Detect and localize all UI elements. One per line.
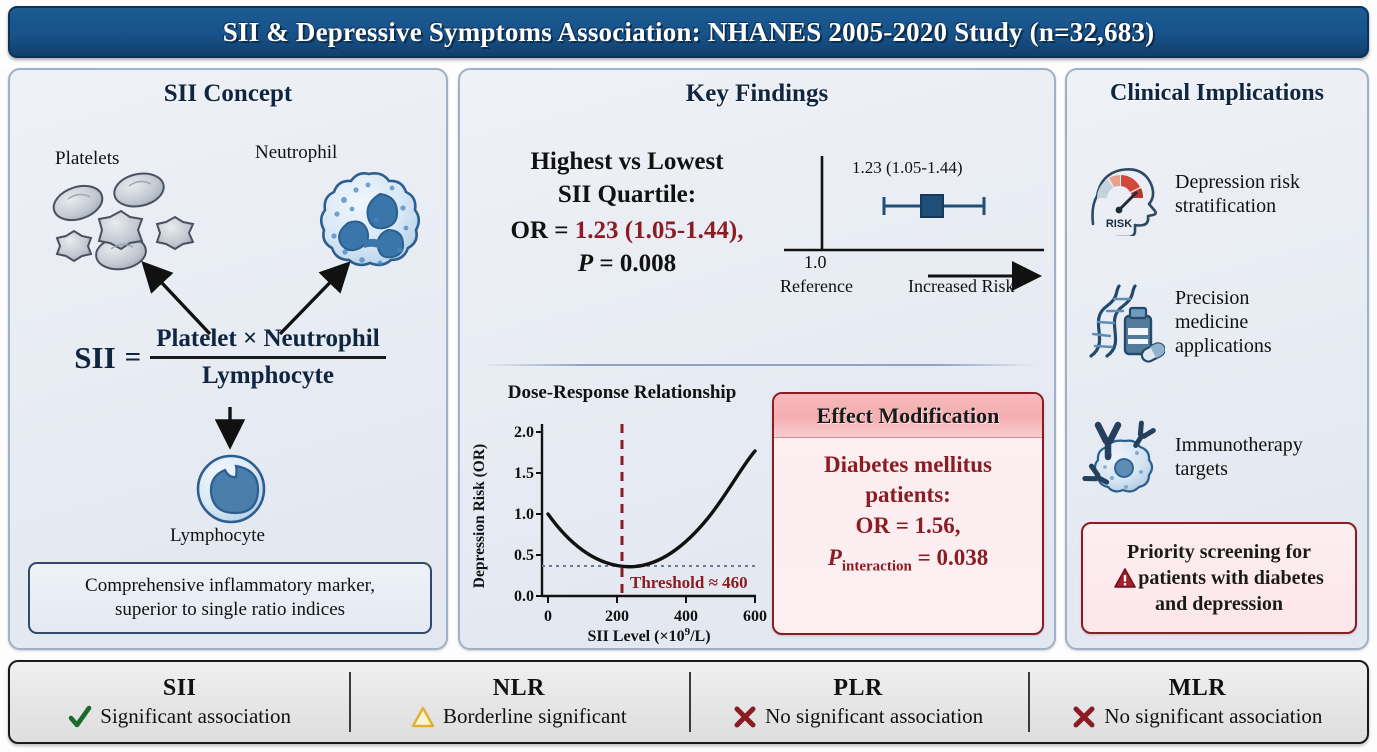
priority-line-2-row: patients with diabetes	[1114, 565, 1324, 591]
effect-modification-box: Effect Modification Diabetes mellitus pa…	[772, 392, 1044, 635]
footer-status-mlr-row: No significant association	[1072, 704, 1322, 729]
formula-denominator: Lymphocyte	[196, 359, 340, 390]
dose-response-title: Dose-Response Relationship	[472, 382, 772, 404]
ytick-1-5: 1.5	[514, 465, 534, 482]
footer-cell-plr: PLR No significant association	[689, 662, 1028, 742]
implication-1-line-2: stratification	[1175, 194, 1300, 218]
neutrophil-label: Neutrophil	[255, 142, 337, 164]
panel-title-sii-concept: SII Concept	[10, 80, 446, 108]
panel-title-clinical-implications: Clinical Implications	[1067, 80, 1367, 107]
footer-status-plr-row: No significant association	[733, 704, 983, 729]
ytick-1-0: 1.0	[514, 506, 534, 523]
effect-p-line: Pinteraction = 0.038	[782, 543, 1034, 577]
head-risk-gauge-icon: RISK	[1081, 152, 1165, 236]
priority-screening-box: Priority screening for patients with dia…	[1081, 522, 1357, 634]
implication-item-precision-medicine: Precision medicine applications	[1081, 280, 1361, 364]
ytick-2-0: 2.0	[514, 424, 534, 441]
summary-footer: SII Significant association NLR Borderli…	[8, 660, 1369, 744]
key-finding-text: Highest vs Lowest SII Quartile: OR = 1.2…	[472, 146, 782, 280]
platelets-label: Platelets	[55, 148, 119, 170]
footer-status-sii-row: Significant association	[68, 704, 291, 729]
sii-formula: SII = Platelet × Neutrophil Lymphocyte	[20, 325, 440, 390]
forest-plot: 1.23 (1.05-1.44) 1.0 R	[778, 150, 1050, 330]
triangle-icon	[411, 705, 435, 729]
forest-reference-caption: Reference	[780, 276, 853, 297]
implication-text-1: Depression risk stratification	[1175, 170, 1300, 218]
forest-direction-caption: Increased Risk	[908, 276, 1014, 297]
priority-line-2: patients with diabetes	[1138, 567, 1324, 589]
cross-icon	[1072, 705, 1096, 729]
footer-status-nlr: Borderline significant	[443, 704, 627, 729]
header-banner: SII & Depressive Symptoms Association: N…	[8, 6, 1369, 58]
panel-title-key-findings: Key Findings	[460, 80, 1054, 108]
implication-2-line-2: medicine	[1175, 310, 1272, 334]
implication-item-immunotherapy: Immunotherapy targets	[1081, 415, 1361, 499]
dose-xlabel: SII Level (×109/L)	[587, 626, 710, 645]
footer-status-plr: No significant association	[765, 704, 983, 729]
dose-response-graphic: Depression Risk (OR) 2.0 1.5 1.0 0.5 0.0	[468, 410, 768, 645]
footer-cell-mlr: MLR No significant association	[1028, 662, 1367, 742]
effect-line-1: Diabetes mellitus	[782, 450, 1034, 480]
panel-sii-concept: SII Concept Platelets Neutrophil	[8, 68, 448, 650]
dose-response-chart: Depression Risk (OR) 2.0 1.5 1.0 0.5 0.0	[468, 410, 768, 645]
footer-cell-nlr: NLR Borderline significant	[349, 662, 688, 742]
formula-numerator: Platelet × Neutrophil	[150, 325, 385, 356]
graphical-abstract: SII & Depressive Symptoms Association: N…	[0, 0, 1377, 752]
footer-marker-sii: SII	[163, 675, 197, 702]
finding-line-1: Highest vs Lowest	[472, 146, 782, 179]
panel-clinical-implications: Clinical Implications RISK Depression ri…	[1065, 68, 1369, 650]
implication-item-depression-risk: RISK Depression risk stratification	[1081, 152, 1361, 236]
sii-note-line-2: superior to single ratio indices	[115, 598, 345, 622]
priority-line-1: Priority screening for	[1114, 539, 1324, 565]
footer-status-sii: Significant association	[100, 704, 291, 729]
mid-panel-divider	[482, 364, 1036, 366]
finding-or-line: OR = 1.23 (1.05-1.44),	[472, 215, 782, 248]
footer-status-nlr-row: Borderline significant	[411, 704, 627, 729]
effect-modification-body: Diabetes mellitus patients: OR = 1.56, P…	[774, 438, 1042, 577]
lymphocyte-icon	[192, 450, 270, 528]
ytick-0-5: 0.5	[514, 547, 534, 564]
warning-triangle-icon	[1114, 568, 1136, 588]
xtick-0: 0	[544, 608, 552, 625]
formula-lhs: SII	[74, 340, 115, 376]
cross-icon	[733, 705, 757, 729]
implication-2-line-3: applications	[1175, 334, 1272, 358]
xtick-200: 200	[605, 608, 629, 625]
down-arrow-icon	[215, 405, 245, 453]
effect-modification-header: Effect Modification	[774, 394, 1042, 438]
page-title: SII & Depressive Symptoms Association: N…	[223, 17, 1155, 48]
implication-text-3: Immunotherapy targets	[1175, 433, 1303, 481]
finding-line-2: SII Quartile:	[472, 179, 782, 212]
sii-note-box: Comprehensive inflammatory marker, super…	[28, 562, 432, 634]
effect-line-2: patients:	[782, 480, 1034, 510]
effect-p-value: = 0.038	[912, 545, 988, 570]
risk-gauge-label: RISK	[1106, 218, 1132, 230]
implication-text-2: Precision medicine applications	[1175, 286, 1272, 358]
sii-note-line-1: Comprehensive inflammatory marker,	[85, 574, 375, 598]
formula-fraction: Platelet × Neutrophil Lymphocyte	[150, 325, 385, 390]
implication-3-line-2: targets	[1175, 457, 1303, 481]
ytick-0-0: 0.0	[514, 588, 534, 605]
formula-equals: =	[125, 341, 142, 374]
effect-p-subscript: interaction	[842, 559, 912, 575]
p-label: P	[578, 250, 593, 277]
xtick-400: 400	[674, 608, 698, 625]
dose-ylabel: Depression Risk (OR)	[471, 444, 488, 588]
footer-status-mlr: No significant association	[1104, 704, 1322, 729]
forest-estimate-label: 1.23 (1.05-1.44)	[852, 158, 962, 178]
or-prefix: OR =	[511, 217, 575, 244]
panel-key-findings: Key Findings Highest vs Lowest SII Quart…	[458, 68, 1056, 650]
threshold-label: Threshold ≈ 460	[630, 573, 748, 592]
lymphocyte-label: Lymphocyte	[170, 525, 265, 547]
or-value: 1.23 (1.05-1.44),	[575, 217, 744, 244]
footer-marker-mlr: MLR	[1169, 675, 1227, 702]
antibody-cell-icon	[1081, 415, 1165, 499]
footer-marker-plr: PLR	[833, 675, 883, 702]
priority-screening-text: Priority screening for patients with dia…	[1114, 539, 1324, 617]
effect-line-3: OR = 1.56,	[782, 511, 1034, 541]
finding-p-line: P = 0.008	[472, 248, 782, 281]
effect-p-label: P	[828, 545, 842, 570]
dose-response-curve	[548, 451, 755, 567]
footer-marker-nlr: NLR	[493, 675, 545, 702]
forest-reference-value: 1.0	[804, 252, 827, 273]
priority-line-3: and depression	[1114, 591, 1324, 617]
implication-1-line-1: Depression risk	[1175, 170, 1300, 194]
implication-2-line-1: Precision	[1175, 286, 1272, 310]
footer-cell-sii: SII Significant association	[10, 662, 349, 742]
xtick-600: 600	[743, 608, 767, 625]
check-icon	[68, 705, 92, 729]
dna-medicine-icon	[1081, 280, 1165, 364]
implication-3-line-1: Immunotherapy	[1175, 433, 1303, 457]
p-value: = 0.008	[593, 250, 676, 277]
